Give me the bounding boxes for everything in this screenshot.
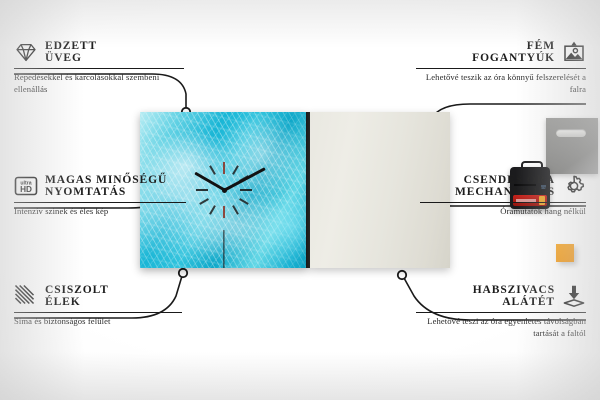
feature-polished-edges: CSISZOLT ÉLEK Sima és biztonságos felüle…: [14, 284, 182, 328]
metal-hanger-part: [546, 118, 598, 174]
clock-second-hand: [223, 230, 224, 268]
feature-description: Repedésekkel és karcolásokkal szembeni e…: [14, 72, 184, 95]
feature-header: FÉM FOGANTYÚK: [416, 40, 586, 64]
feature-title-line2: ÉLEK: [45, 296, 109, 308]
feature-rule: [14, 68, 184, 69]
feature-metal-hangers: FÉM FOGANTYÚK Lehetővé teszik az óra kön…: [416, 40, 586, 95]
feature-description: Intenzív színek és éles kép: [14, 206, 186, 217]
feature-header: HABSZIVACS ALÁTÉT: [416, 284, 586, 308]
feature-description: Sima és biztonságos felület: [14, 316, 182, 327]
feature-description: Lehetővé teszik az óra könnyű felszerelé…: [416, 72, 586, 95]
feature-title-line1: EDZETT: [45, 40, 97, 52]
svg-text:HD: HD: [20, 185, 32, 194]
gear-icon: [562, 174, 586, 198]
diamond-icon: [14, 40, 38, 64]
feature-title: EDZETT ÜVEG: [45, 40, 97, 64]
feature-tempered-glass: EDZETT ÜVEG Repedésekkel és karcolásokka…: [14, 40, 184, 95]
clock-center-cap: [222, 188, 227, 193]
connector-dot-foam-pad: [398, 271, 406, 279]
feature-title-line2: FOGANTYÚK: [472, 52, 555, 64]
foam-pad-icon: [562, 284, 586, 308]
feature-hd-print: ultra HD MAGAS MINŐSÉGŰ NYOMTATÁS Intenz…: [14, 174, 186, 218]
feature-title-line2: ALÁTÉT: [473, 296, 555, 308]
feature-title: MAGAS MINŐSÉGŰ NYOMTATÁS: [45, 174, 167, 198]
picture-hanger-icon: [562, 40, 586, 64]
feature-rule: [14, 202, 186, 203]
feature-title-line1: CSISZOLT: [45, 284, 109, 296]
feature-rule: [420, 202, 586, 203]
connector-dot-polished-edges: [179, 269, 187, 277]
feature-title: HABSZIVACS ALÁTÉT: [473, 284, 555, 308]
feature-description: Lehetővé teszi az óra egyenletes távolsá…: [416, 316, 586, 339]
polished-edges-icon: [14, 284, 38, 308]
feature-foam-pad: HABSZIVACS ALÁTÉT Lehetővé teszi az óra …: [416, 284, 586, 339]
feature-silent-mechanism: CSENDES ÓRA MECHANIZMUS Óramutatók hang …: [420, 174, 586, 218]
mechanism-bail: [521, 161, 543, 172]
product-image: [140, 112, 450, 268]
ultra-hd-icon: ultra HD: [14, 174, 38, 198]
feature-title-line1: HABSZIVACS: [473, 284, 555, 296]
feature-rule: [416, 312, 586, 313]
feature-rule: [14, 312, 182, 313]
feature-title-line2: MECHANIZMUS: [455, 186, 555, 198]
hanger-slot: [556, 129, 586, 137]
feature-title-line2: NYOMTATÁS: [45, 186, 167, 198]
foam-pad-part: [556, 244, 574, 262]
feature-title: CSISZOLT ÉLEK: [45, 284, 109, 308]
feature-header: CSISZOLT ÉLEK: [14, 284, 182, 308]
feature-title-line2: ÜVEG: [45, 52, 97, 64]
feature-title: CSENDES ÓRA MECHANIZMUS: [455, 174, 555, 198]
feature-title-line1: MAGAS MINŐSÉGŰ: [45, 174, 167, 186]
feature-header: CSENDES ÓRA MECHANIZMUS: [420, 174, 586, 198]
feature-title-line1: CSENDES ÓRA: [455, 174, 555, 186]
feature-header: EDZETT ÜVEG: [14, 40, 184, 64]
feature-description: Óramutatók hang nélkül: [420, 206, 586, 217]
infographic-canvas: EDZETT ÜVEG Repedésekkel és karcolásokka…: [0, 0, 600, 400]
feature-header: ultra HD MAGAS MINŐSÉGŰ NYOMTATÁS: [14, 174, 186, 198]
feature-title-line1: FÉM: [472, 40, 555, 52]
feature-rule: [416, 68, 586, 69]
feature-title: FÉM FOGANTYÚK: [472, 40, 555, 64]
